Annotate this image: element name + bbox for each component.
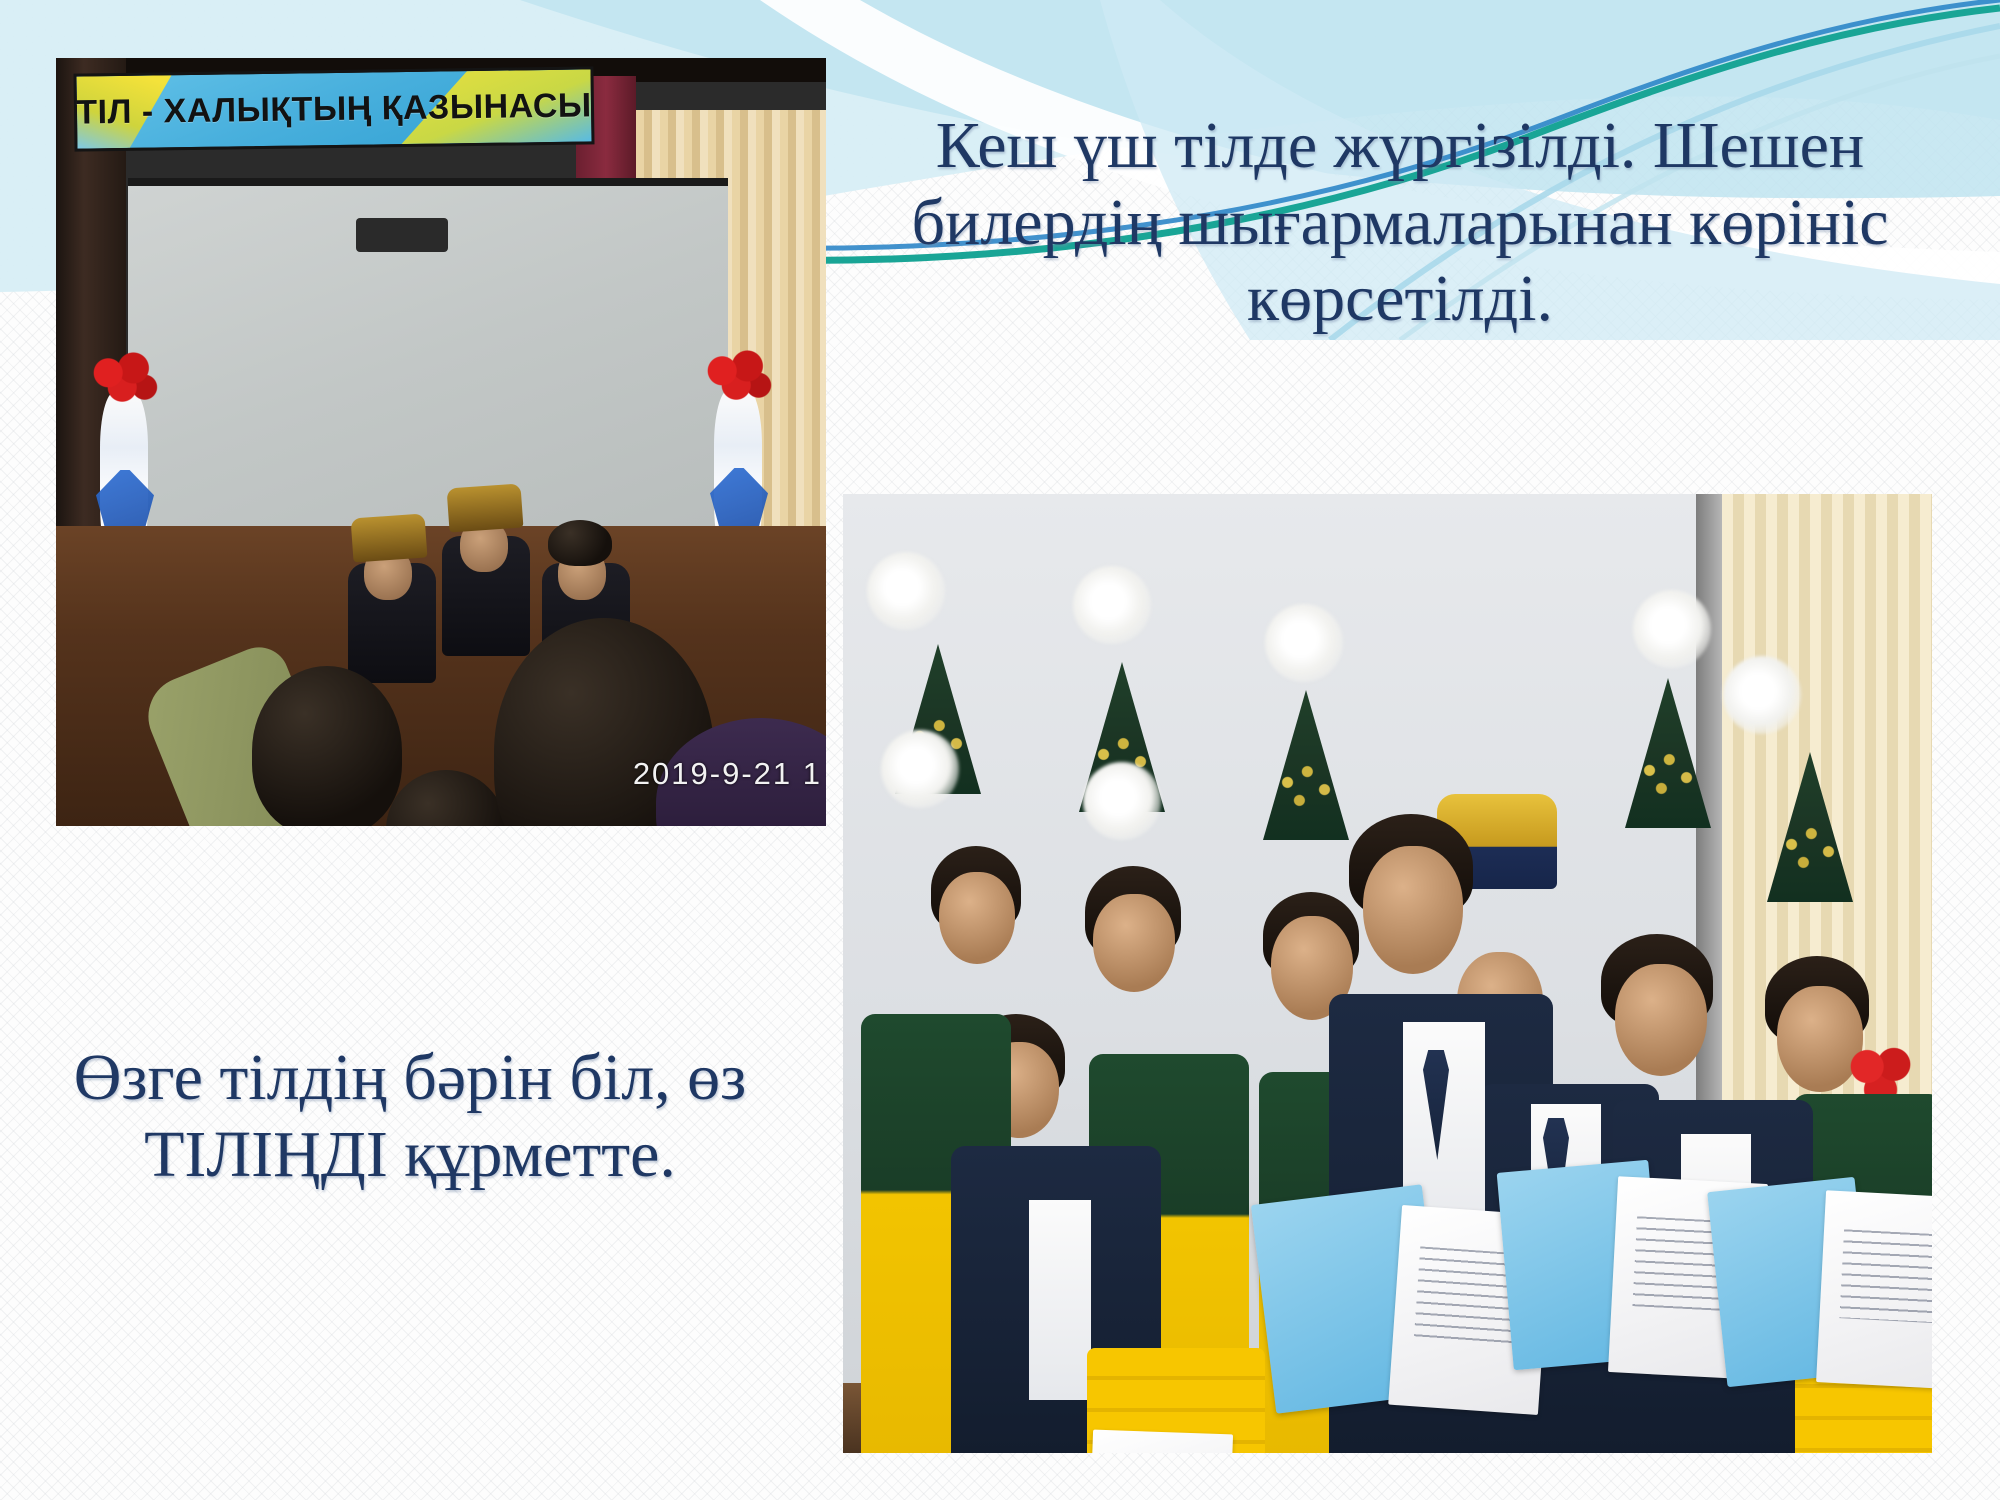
shirt — [1029, 1200, 1091, 1400]
red-flowers-icon — [704, 348, 774, 408]
photo-timestamp: 2019-9-21 1 — [633, 756, 822, 792]
slide-text-bottom-left: Өзге тілдің бәрін біл, өз ТІЛІҢДІ құрмет… — [60, 1040, 760, 1193]
feather-plume — [1633, 590, 1711, 668]
projector-unit — [356, 218, 448, 252]
feather-plume — [881, 730, 959, 808]
child-face — [939, 872, 1015, 964]
song-sheet — [1089, 1430, 1233, 1453]
feather-plume — [1083, 762, 1161, 840]
child-face — [1093, 894, 1175, 992]
slide-text-top-right: Кеш үш тілде жүргізілді. Шешен билердің … — [840, 108, 1960, 338]
performer-hair — [548, 520, 612, 566]
child-face — [1615, 964, 1707, 1076]
hall-banner: ТІЛ - ХАЛЫҚТЫҢ ҚАЗЫНАСЫ — [73, 66, 594, 151]
feather-plume — [1265, 604, 1343, 682]
song-sheet — [1816, 1190, 1932, 1389]
stage-hall-photo: ТІЛ - ХАЛЫҚТЫҢ ҚАЗЫНАСЫ — [56, 58, 826, 826]
child-face — [1363, 846, 1463, 974]
children-choir-photo — [843, 494, 1932, 1453]
audience-head — [252, 666, 402, 826]
feather-plume — [867, 552, 945, 630]
red-flowers-icon — [90, 350, 160, 410]
presentation-slide: ТІЛ - ХАЛЫҚТЫҢ ҚАЗЫНАСЫ — [0, 0, 2000, 1500]
feather-plume — [1073, 566, 1151, 644]
hall-banner-text: ТІЛ - ХАЛЫҚТЫҢ ҚАЗЫНАСЫ — [76, 86, 592, 132]
traditional-hat-icon — [447, 483, 524, 532]
feather-plume — [1723, 656, 1801, 734]
traditional-hat-icon — [351, 513, 428, 562]
